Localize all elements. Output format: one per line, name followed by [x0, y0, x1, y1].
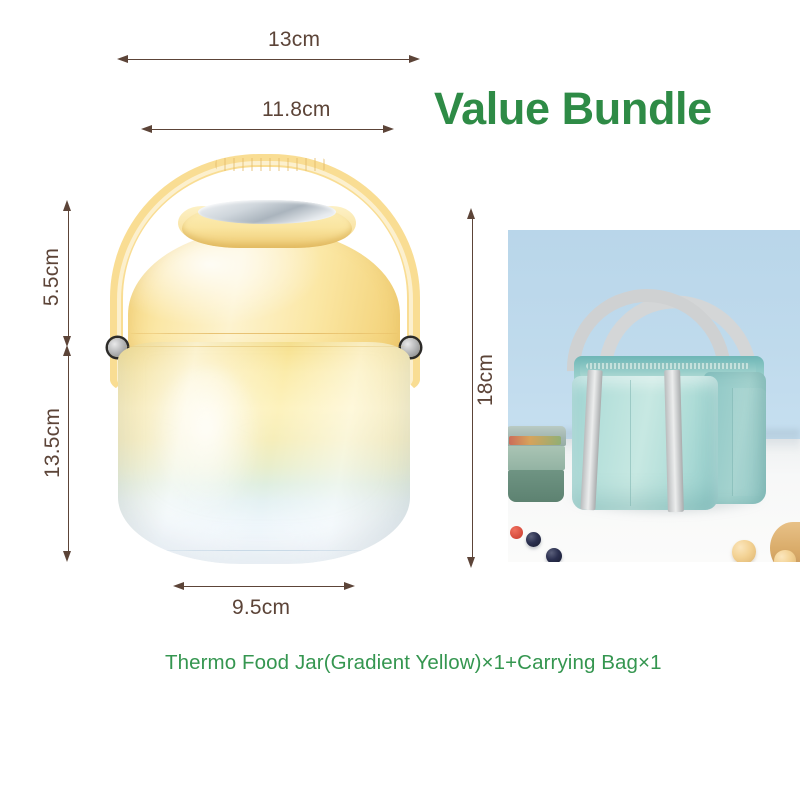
arrowhead-right: [344, 582, 355, 590]
bento-food: [509, 436, 561, 445]
jar-lid-seam: [130, 333, 398, 334]
jar-body-top-seam: [122, 346, 406, 347]
arrowhead-down: [467, 557, 475, 568]
arrowhead-up: [63, 200, 71, 211]
arrowhead-left: [117, 55, 128, 63]
arrowhead-right: [383, 125, 394, 133]
arrowhead-right: [409, 55, 420, 63]
dimension-label-13cm: 13cm: [268, 28, 320, 52]
arrowhead-down: [63, 551, 71, 562]
arrowhead-up: [63, 345, 71, 356]
jar-body-highlight: [152, 368, 262, 518]
jar-handle-grip-ridges: [215, 158, 327, 171]
arrowhead-left: [141, 125, 152, 133]
thermo-food-jar-image: [90, 150, 440, 570]
dimension-label-11-8cm: 11.8cm: [262, 98, 331, 122]
red-fruit: [510, 526, 523, 539]
dimension-label-18cm: 18cm: [474, 340, 498, 420]
blueberry-2: [546, 548, 562, 562]
cookie-1: [732, 540, 756, 562]
bag-side-pocket: [732, 388, 767, 496]
jar-knob-metal-cap: [198, 200, 336, 224]
bag-front-seam: [630, 380, 631, 506]
bag-zipper: [586, 363, 750, 369]
cookie-2: [774, 550, 796, 562]
bento-box: [508, 426, 566, 508]
dimension-label-5-5cm: 5.5cm: [40, 237, 64, 317]
arrowhead-up: [467, 208, 475, 219]
bento-tier-lower: [508, 470, 564, 502]
arrowhead-left: [173, 582, 184, 590]
carrying-bag-photo: [508, 230, 800, 562]
jar-base-seam: [166, 550, 362, 551]
blueberry-1: [526, 532, 541, 547]
dimension-label-13-5cm: 13.5cm: [41, 393, 65, 493]
dimension-label-9-5cm: 9.5cm: [232, 596, 290, 620]
bundle-caption: Thermo Food Jar(Gradient Yellow)×1+Carry…: [165, 653, 662, 674]
product-infographic: Value Bundle 13cm 11.8cm 5.5cm 13.5cm 9.…: [0, 0, 800, 800]
bento-tier-upper: [508, 446, 565, 470]
value-bundle-headline: Value Bundle: [434, 86, 712, 131]
